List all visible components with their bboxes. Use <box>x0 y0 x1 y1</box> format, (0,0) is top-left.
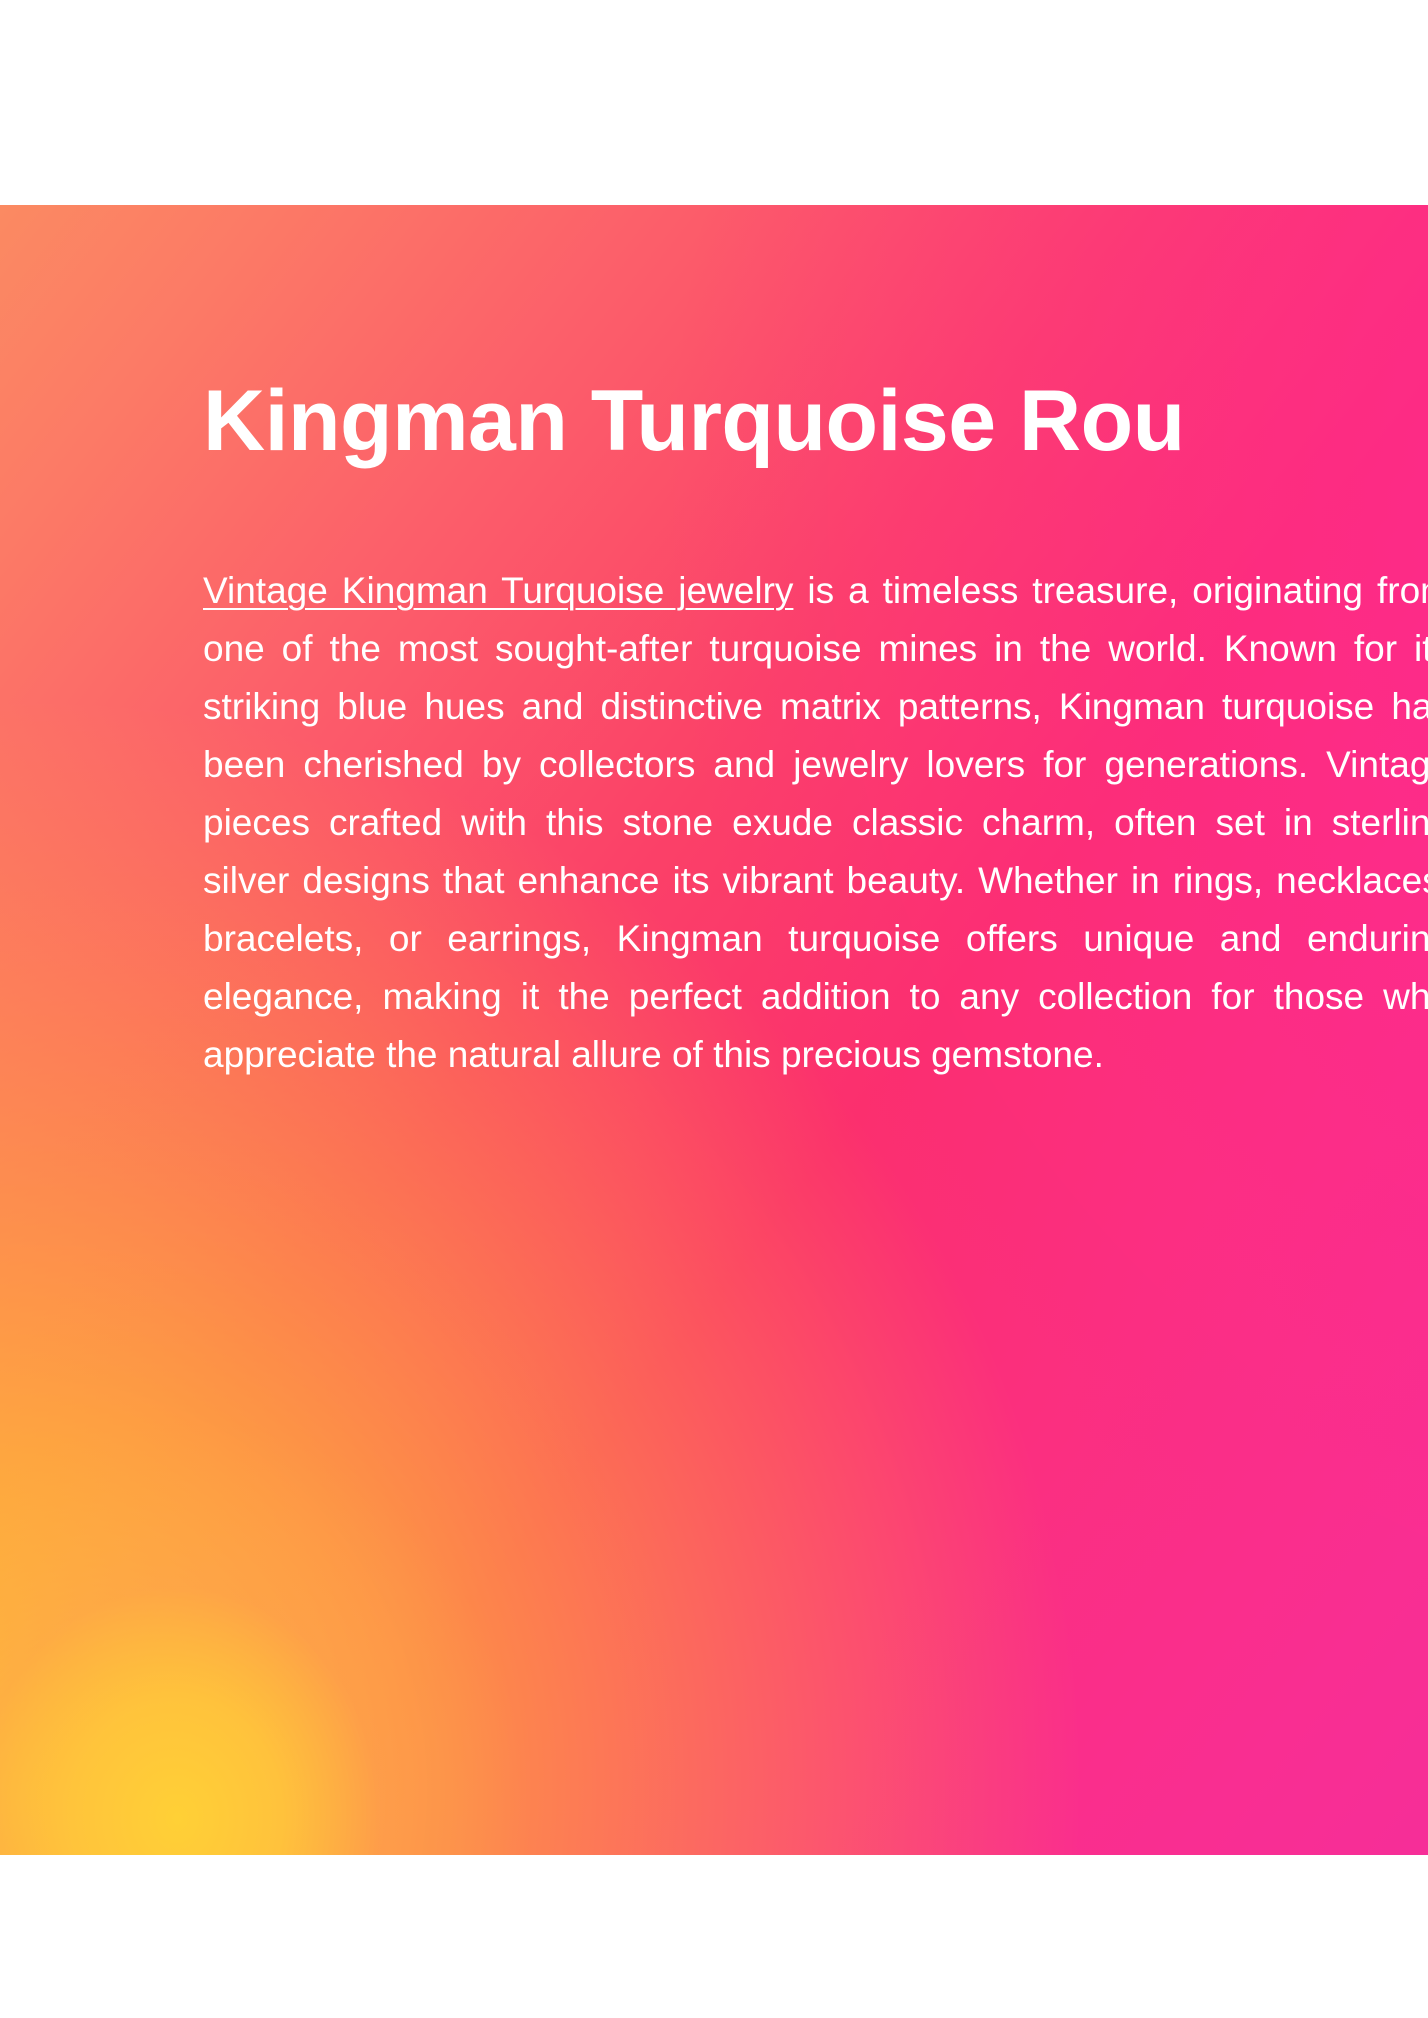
article-body-text: is a timeless treasure, originating from… <box>203 570 1428 1075</box>
page-top-margin <box>0 0 1428 205</box>
article-paragraph: Vintage Kingman Turquoise jewelry is a t… <box>203 466 1428 1084</box>
page-canvas: Kingman Turquoise Rou Vintage Kingman Tu… <box>0 0 1428 2018</box>
product-link[interactable]: Vintage Kingman Turquoise jewelry <box>203 570 793 611</box>
page-bottom-margin <box>0 1855 1428 2018</box>
